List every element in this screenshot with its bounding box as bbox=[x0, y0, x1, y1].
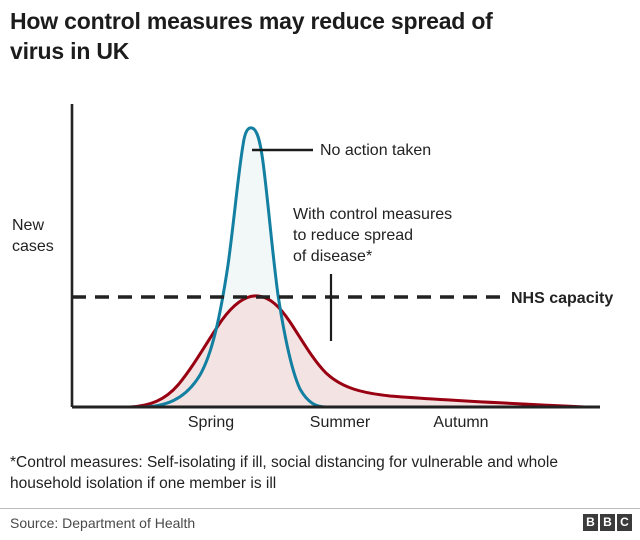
footer-divider bbox=[0, 508, 640, 509]
bbc-logo-block-3: C bbox=[617, 514, 632, 531]
annotation-no-action-taken: No action taken bbox=[320, 140, 500, 161]
nhs-capacity-label: NHS capacity bbox=[511, 288, 613, 309]
x-tick-label-autumn: Autumn bbox=[433, 414, 488, 432]
footnote-control-measures: *Control measures: Self-isolating if ill… bbox=[10, 452, 630, 494]
x-tick-label-spring: Spring bbox=[188, 414, 234, 432]
bbc-logo: B B C bbox=[583, 514, 632, 531]
y-axis-label: New cases bbox=[12, 215, 68, 257]
source-attribution: Source: Department of Health bbox=[10, 515, 195, 531]
series-area-no-action bbox=[72, 128, 600, 407]
x-tick-label-summer: Summer bbox=[310, 414, 370, 432]
bbc-chart-graphic: How control measures may reduce spread o… bbox=[0, 0, 640, 540]
annotation-control-measures: With control measures to reduce spread o… bbox=[293, 204, 493, 267]
bbc-logo-block-1: B bbox=[583, 514, 598, 531]
bbc-logo-block-2: B bbox=[600, 514, 615, 531]
series-area-control-measures bbox=[72, 296, 600, 407]
